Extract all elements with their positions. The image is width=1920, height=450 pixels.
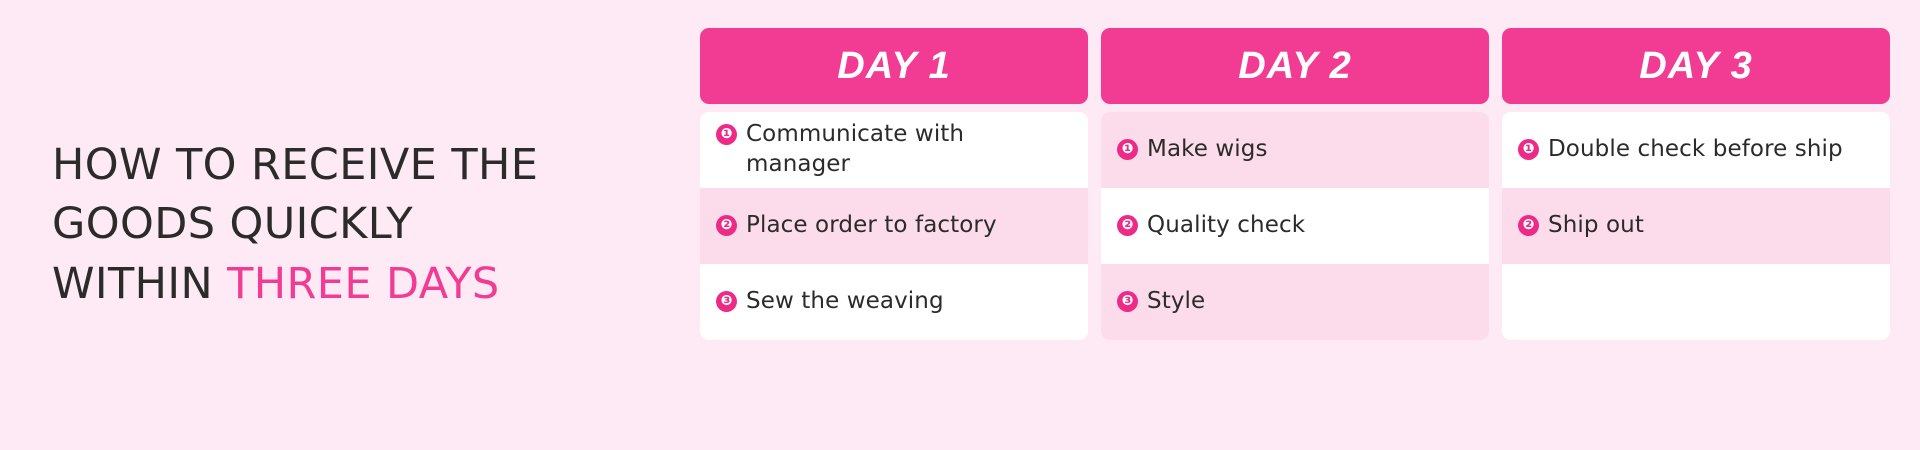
day-3-header: DAY 3 bbox=[1502, 28, 1890, 104]
task-content: ❷ Place order to factory bbox=[716, 211, 997, 241]
headline-line-3-plain: WITHIN bbox=[52, 259, 227, 309]
task-label: Sew the weaving bbox=[746, 287, 944, 317]
headline-block: HOW TO RECEIVE THE GOODS QUICKLY WITHIN … bbox=[0, 0, 700, 450]
page-title: HOW TO RECEIVE THE GOODS QUICKLY WITHIN … bbox=[52, 136, 680, 314]
number-badge-icon: ❶ bbox=[1518, 139, 1539, 160]
task-content: ❶ Make wigs bbox=[1117, 135, 1268, 165]
task-row-empty bbox=[1502, 264, 1890, 340]
task-row[interactable]: ❶ Communicate with manager bbox=[700, 112, 1088, 188]
task-label: Double check before ship bbox=[1548, 135, 1843, 165]
number-badge-icon: ❸ bbox=[1117, 291, 1138, 312]
day-1-task-list: ❶ Communicate with manager ❷ Place order… bbox=[700, 112, 1088, 340]
task-label: Style bbox=[1147, 287, 1205, 317]
number-badge-icon: ❶ bbox=[1117, 139, 1138, 160]
task-label: Ship out bbox=[1548, 211, 1644, 241]
task-row[interactable]: ❸ Style bbox=[1101, 264, 1489, 340]
headline-accent-three-days: THREE DAYS bbox=[227, 259, 499, 309]
day-column-1: DAY 1 ❶ Communicate with manager ❷ Place… bbox=[700, 28, 1088, 340]
number-badge-icon: ❷ bbox=[1518, 215, 1539, 236]
task-content: ❸ Style bbox=[1117, 287, 1205, 317]
number-badge-icon: ❶ bbox=[716, 124, 737, 145]
task-label: Communicate with manager bbox=[746, 120, 1070, 180]
day-2-header: DAY 2 bbox=[1101, 28, 1489, 104]
number-badge-icon: ❸ bbox=[716, 291, 737, 312]
task-label: Quality check bbox=[1147, 211, 1305, 241]
headline-line-1: HOW TO RECEIVE THE bbox=[52, 136, 680, 195]
task-label: Make wigs bbox=[1147, 135, 1268, 165]
task-row[interactable]: ❶ Double check before ship bbox=[1502, 112, 1890, 188]
task-content: ❶ Double check before ship bbox=[1518, 135, 1843, 165]
day-columns: DAY 1 ❶ Communicate with manager ❷ Place… bbox=[700, 0, 1920, 450]
task-content: ❶ Communicate with manager bbox=[716, 120, 1070, 180]
day-2-task-list: ❶ Make wigs ❷ Quality check ❸ Style bbox=[1101, 112, 1489, 340]
number-badge-icon: ❷ bbox=[716, 215, 737, 236]
headline-line-3: WITHIN THREE DAYS bbox=[52, 255, 680, 314]
infographic-banner: HOW TO RECEIVE THE GOODS QUICKLY WITHIN … bbox=[0, 0, 1920, 450]
task-row[interactable]: ❶ Make wigs bbox=[1101, 112, 1489, 188]
day-column-2: DAY 2 ❶ Make wigs ❷ Quality check bbox=[1101, 28, 1489, 340]
day-1-header: DAY 1 bbox=[700, 28, 1088, 104]
task-row[interactable]: ❷ Place order to factory bbox=[700, 188, 1088, 264]
task-row[interactable]: ❷ Ship out bbox=[1502, 188, 1890, 264]
task-label: Place order to factory bbox=[746, 211, 997, 241]
task-content: ❷ Ship out bbox=[1518, 211, 1644, 241]
day-column-3: DAY 3 ❶ Double check before ship ❷ Ship … bbox=[1502, 28, 1890, 340]
task-row[interactable]: ❸ Sew the weaving bbox=[700, 264, 1088, 340]
task-content: ❷ Quality check bbox=[1117, 211, 1305, 241]
task-content: ❸ Sew the weaving bbox=[716, 287, 944, 317]
headline-line-2: GOODS QUICKLY bbox=[52, 195, 680, 254]
day-3-task-list: ❶ Double check before ship ❷ Ship out bbox=[1502, 112, 1890, 340]
number-badge-icon: ❷ bbox=[1117, 215, 1138, 236]
task-row[interactable]: ❷ Quality check bbox=[1101, 188, 1489, 264]
